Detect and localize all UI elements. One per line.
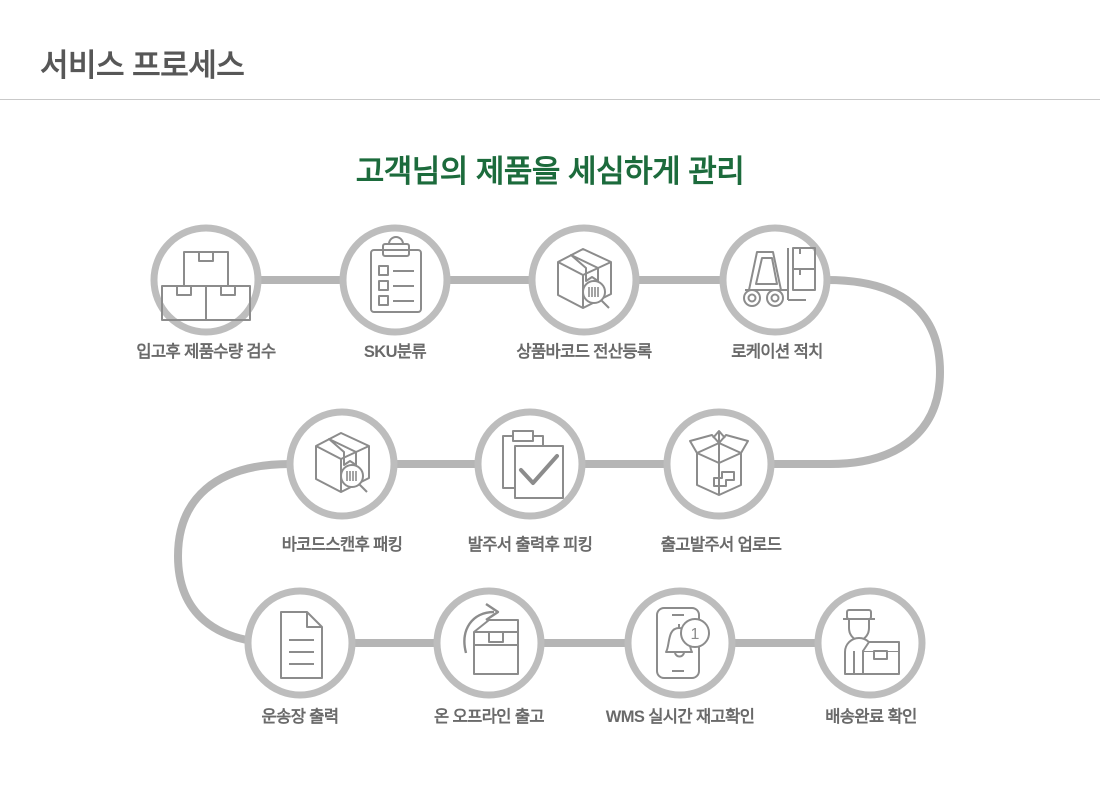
- step-label-3: 상품바코드 전산등록: [516, 338, 651, 362]
- step-label-8: 운송장 출력: [262, 703, 339, 727]
- step-label-6: 발주서 출력후 피킹: [468, 531, 593, 555]
- step-label-9: 온 오프라인 출고: [434, 703, 544, 727]
- step-node-3[interactable]: [532, 228, 636, 332]
- step-label-1: 입고후 제품수량 검수: [136, 338, 275, 362]
- step-node-7[interactable]: [667, 412, 771, 516]
- step-label-2: SKU분류: [364, 338, 426, 362]
- step-node-4[interactable]: [723, 228, 827, 332]
- step-label-7: 출고발주서 업로드: [661, 531, 782, 555]
- notification-badge-count: 1: [691, 626, 700, 643]
- step-label-5: 바코드스캔후 패킹: [282, 531, 403, 555]
- step-label-11: 배송완료 확인: [825, 703, 916, 727]
- service-process-flow-diagram: 1: [0, 0, 1100, 804]
- step-node-9[interactable]: [437, 591, 541, 695]
- step-circle-8: [248, 591, 352, 695]
- step-node-6[interactable]: [478, 412, 582, 516]
- step-node-1[interactable]: [154, 228, 258, 332]
- step-label-10: WMS 실시간 재고확인: [606, 703, 755, 727]
- step-node-2[interactable]: [343, 228, 447, 332]
- step-node-5[interactable]: [290, 412, 394, 516]
- step-circle-4: [723, 228, 827, 332]
- step-node-11[interactable]: [818, 591, 922, 695]
- step-node-8[interactable]: [248, 591, 352, 695]
- step-node-10[interactable]: 1: [628, 591, 732, 695]
- step-label-4: 로케이션 적치: [731, 338, 822, 362]
